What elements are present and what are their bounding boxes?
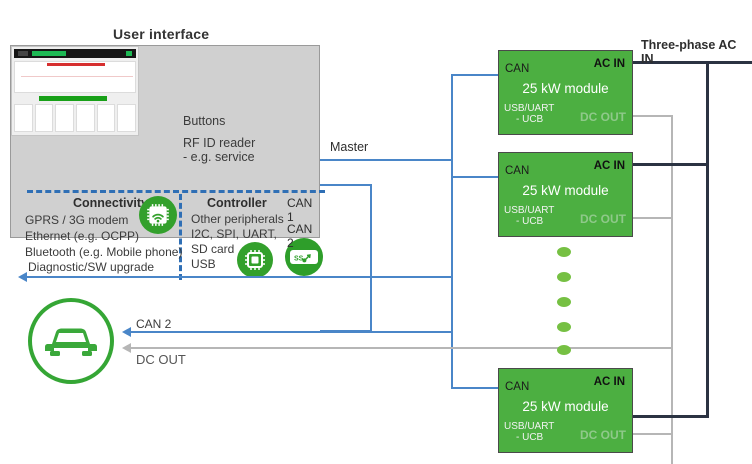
continuation-dot	[557, 345, 571, 355]
tablet-chart-main	[14, 61, 136, 93]
can-bus-vertical	[451, 75, 453, 388]
tablet-status-bar	[39, 96, 107, 101]
can1-port-label: CAN 1	[287, 196, 319, 224]
dc-out-main-wire	[130, 347, 672, 349]
module-2-usb-uart: USB/UART - UCB	[504, 205, 554, 227]
module-card-3[interactable]: CAN AC IN 25 kW module USB/UART - UCB DC…	[498, 368, 633, 453]
module-2-usb-uart-text: USB/UART	[504, 205, 554, 216]
module-1-dc-out: DC OUT	[580, 110, 626, 124]
controller-line-3: SD card	[191, 242, 234, 256]
continuation-dot	[557, 322, 571, 332]
vehicle-can2-arrowhead-icon	[122, 327, 131, 337]
panel-vertical-divider	[179, 194, 182, 280]
connectivity-line-3: Bluetooth (e.g. Mobile phone)	[25, 245, 182, 259]
user-interface-title: User interface	[113, 26, 209, 42]
connectivity-line-2: Ethernet (e.g. OCPP)	[25, 229, 139, 243]
cpu-chip-icon	[237, 242, 273, 278]
can1-wire-horizontal	[320, 159, 452, 161]
controller-line-4: USB	[191, 257, 216, 271]
module-1-usb-uart: USB/UART - UCB	[504, 103, 554, 125]
module-3-ucb-text: - UCB	[504, 432, 543, 443]
diagnostic-label: Diagnostic/SW upgrade	[28, 260, 154, 274]
continuation-dot	[557, 297, 571, 307]
ui-feature-service: - e.g. service	[183, 150, 255, 164]
controller-line-2: I2C, SPI, UART,	[191, 227, 277, 241]
module-1-ucb-text: - UCB	[504, 114, 543, 125]
ac-in-feed-module-2	[633, 163, 709, 166]
can-branch-module-3	[451, 387, 499, 389]
module-1-ac-in: AC IN	[594, 58, 625, 70]
module-2-can-port: CAN	[505, 165, 529, 177]
tablet-chart-grid	[14, 104, 136, 132]
module-3-title: 25 kW module	[499, 399, 632, 414]
dc-out-label: DC OUT	[136, 352, 186, 367]
user-interface-panel: Buttons RF ID reader - e.g. service Conn…	[10, 45, 320, 238]
svg-text:SS: SS	[294, 256, 304, 263]
module-3-can-port: CAN	[505, 381, 529, 393]
ac-in-feed-module-3	[633, 415, 709, 418]
module-3-ac-in: AC IN	[594, 376, 625, 388]
three-phase-ac-in-label: Three-phase AC IN	[641, 38, 752, 66]
controller-line-1: Other peripherals	[191, 212, 284, 226]
panel-horizontal-divider	[27, 190, 325, 193]
dc-out-tap-module-3	[633, 433, 673, 435]
vehicle-can2-wire	[130, 331, 452, 333]
dc-out-arrowhead-icon	[122, 343, 131, 353]
connectivity-heading: Connectivity	[73, 196, 148, 210]
electric-car-icon	[28, 298, 114, 384]
diagnostic-arrowhead-icon	[18, 272, 27, 282]
module-3-usb-uart-text: USB/UART	[504, 421, 554, 432]
can-branch-module-1	[451, 74, 499, 76]
connectivity-line-1: GPRS / 3G modem	[25, 213, 128, 227]
dc-out-collector-vertical	[671, 116, 673, 464]
ui-feature-rfid: RF ID reader	[183, 136, 255, 150]
continuation-dot	[557, 247, 571, 257]
tablet-screenshot	[11, 46, 139, 136]
tablet-toolbar	[14, 49, 136, 58]
vehicle-can2-label: CAN 2	[136, 317, 171, 331]
can2-wire-horizontal-top	[320, 184, 372, 186]
master-label: Master	[330, 140, 368, 154]
module-1-usb-uart-text: USB/UART	[504, 103, 554, 114]
diagnostic-wire	[26, 276, 452, 278]
module-3-dc-out: DC OUT	[580, 428, 626, 442]
module-3-usb-uart: USB/UART - UCB	[504, 421, 554, 443]
can2-wire-vertical	[370, 184, 372, 332]
wifi-chip-icon	[139, 196, 177, 234]
can2-port-label: CAN 2	[287, 222, 319, 250]
ac-bus-vertical	[706, 62, 709, 417]
ui-feature-buttons: Buttons	[183, 114, 225, 128]
dc-out-tap-module-2	[633, 217, 673, 219]
module-1-can-port: CAN	[505, 63, 529, 75]
dc-out-tap-module-1	[633, 115, 673, 117]
module-1-title: 25 kW module	[499, 81, 632, 96]
module-2-dc-out: DC OUT	[580, 212, 626, 226]
can-branch-module-2	[451, 176, 499, 178]
module-card-1[interactable]: CAN AC IN 25 kW module USB/UART - UCB DC…	[498, 50, 633, 135]
controller-heading: Controller	[207, 196, 267, 210]
continuation-dot	[557, 272, 571, 282]
module-card-2[interactable]: CAN AC IN 25 kW module USB/UART - UCB DC…	[498, 152, 633, 237]
module-2-title: 25 kW module	[499, 183, 632, 198]
module-2-ucb-text: - UCB	[504, 216, 543, 227]
module-2-ac-in: AC IN	[594, 160, 625, 172]
